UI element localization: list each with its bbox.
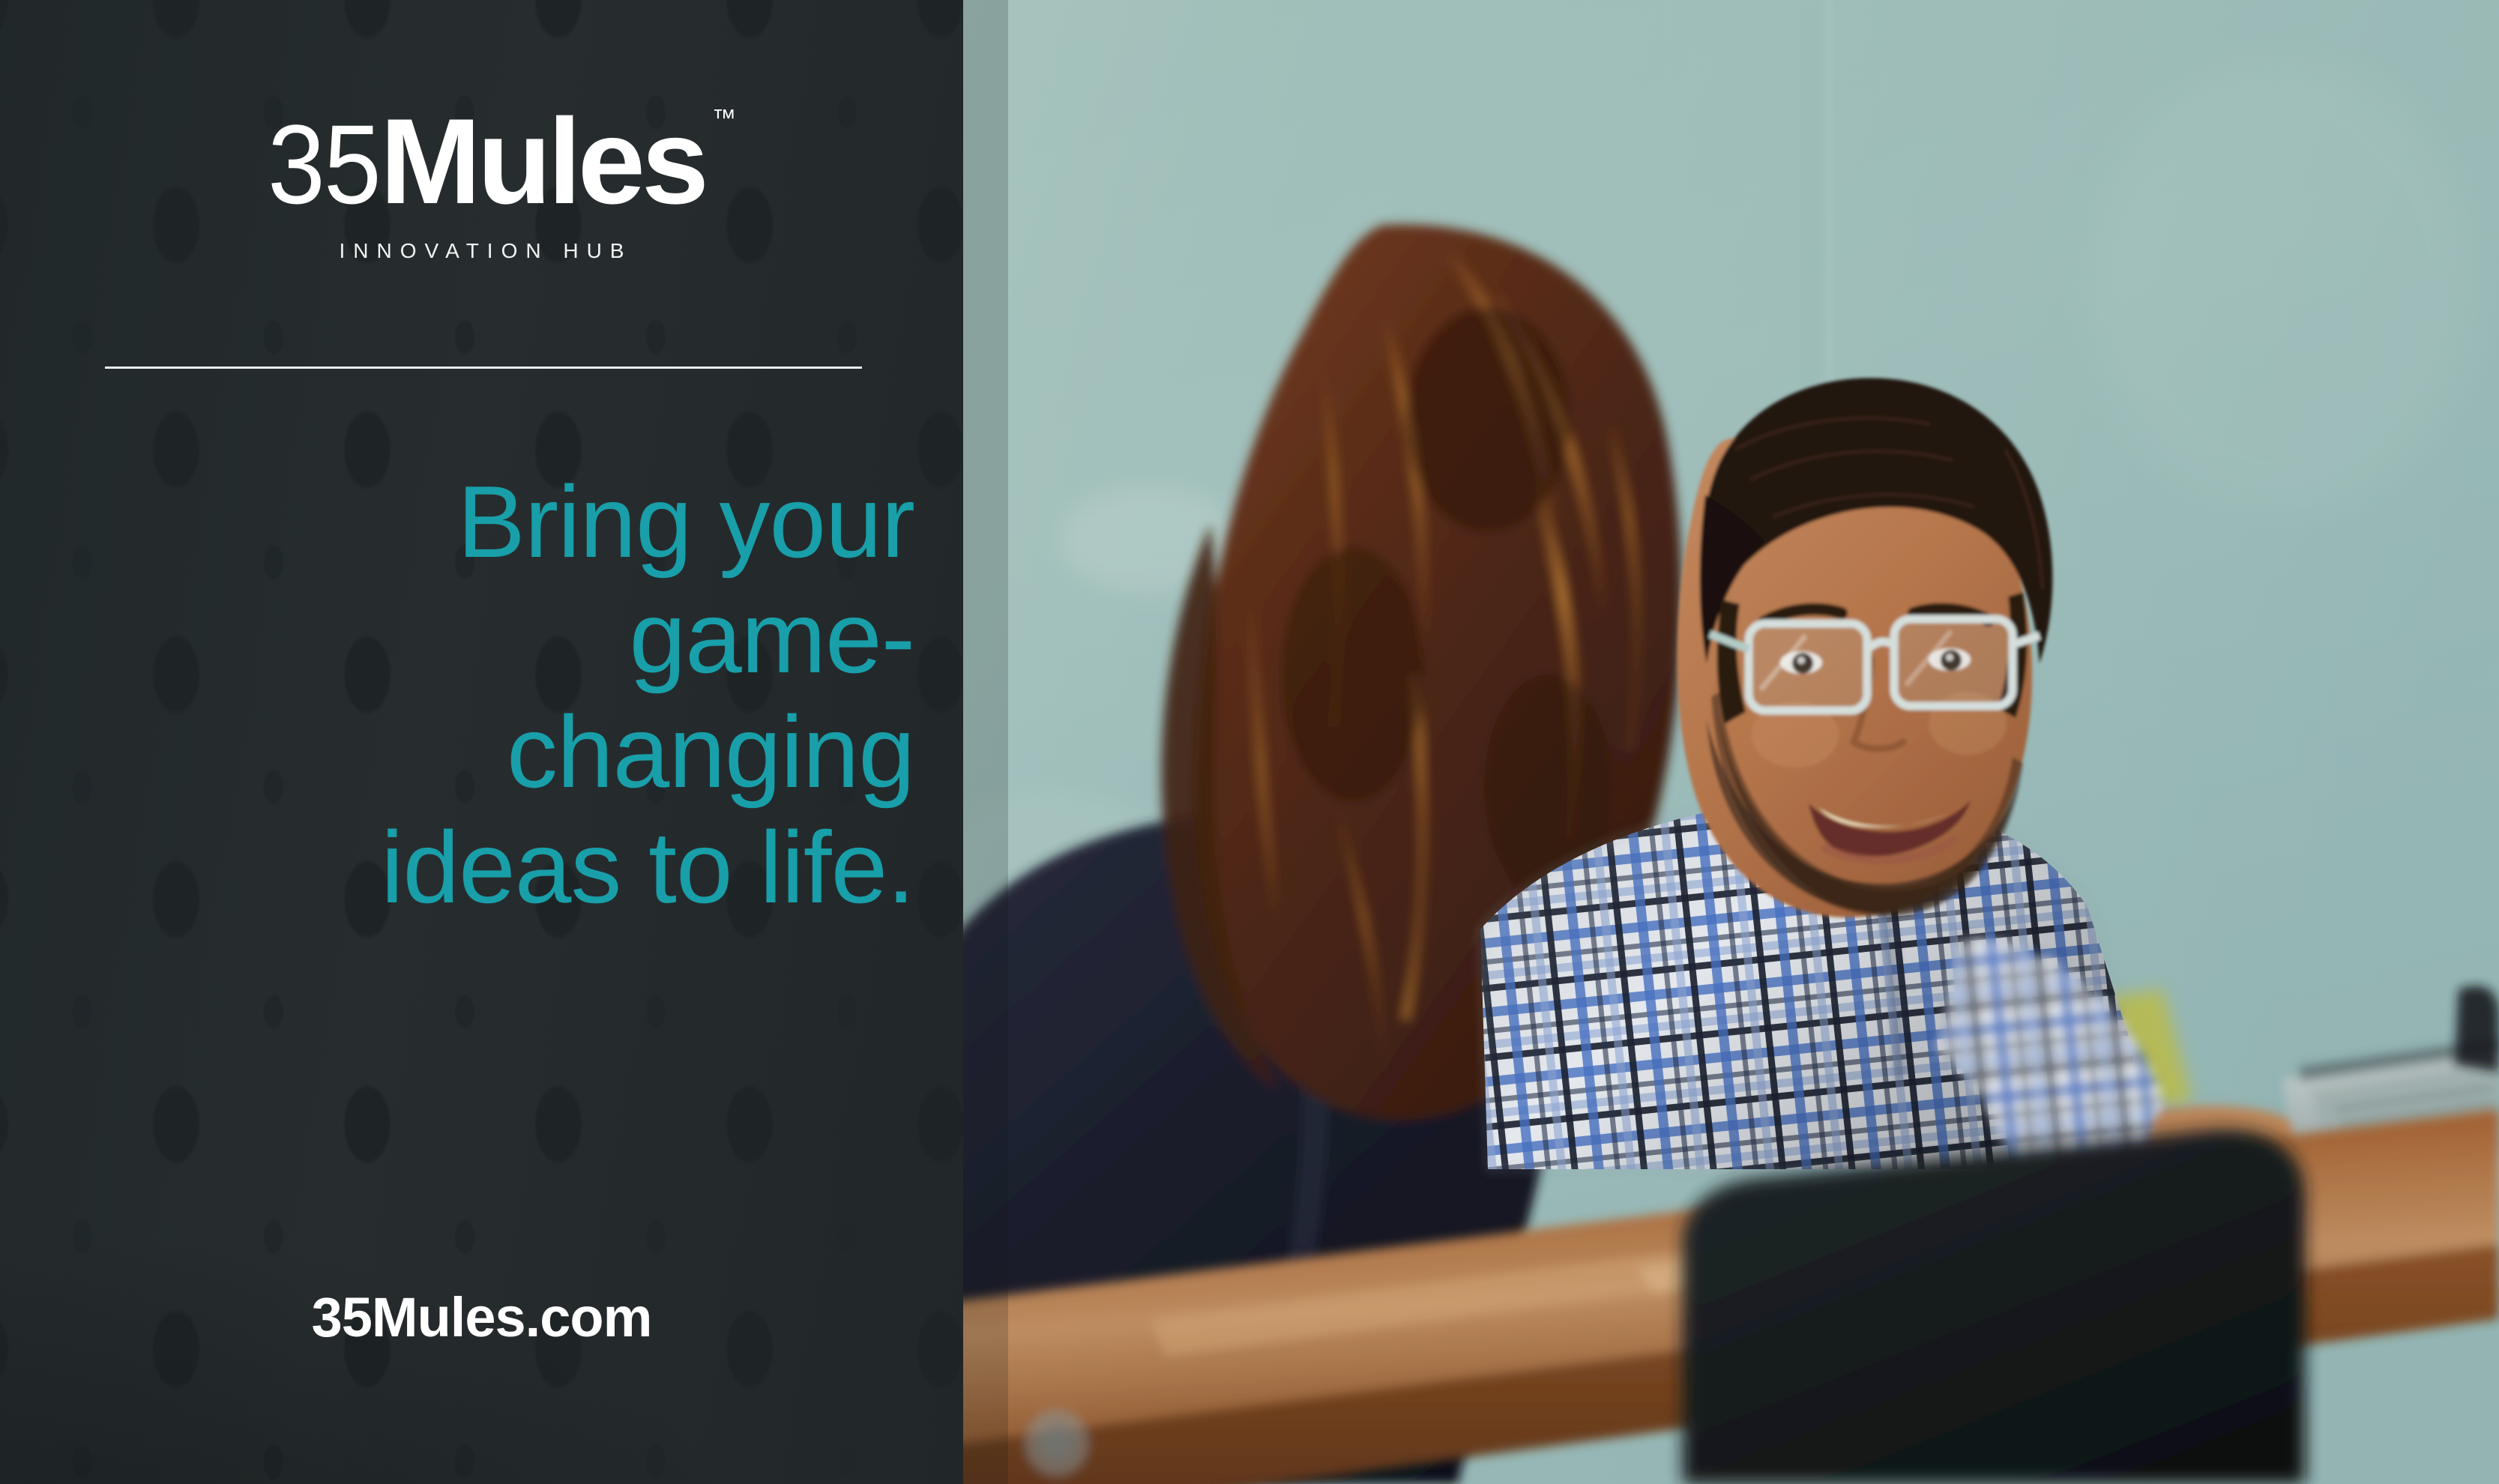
trademark-symbol: ™ bbox=[712, 106, 737, 130]
office-photograph bbox=[963, 0, 2499, 1484]
headline-line-1: Bring your bbox=[45, 465, 914, 580]
headline-line-4: ideas to life. bbox=[45, 810, 914, 926]
brand-panel: 35Mules ™ INNOVATION HUB Bring your game… bbox=[0, 0, 963, 1484]
divider-rule bbox=[105, 367, 862, 369]
logo-tagline: INNOVATION HUB bbox=[0, 239, 963, 263]
photo-illustration bbox=[963, 0, 2499, 1484]
headline-line-3: changing bbox=[45, 695, 914, 810]
logo-wordmark: 35Mules ™ bbox=[258, 101, 705, 223]
headline: Bring your game- changing ideas to life. bbox=[45, 465, 914, 926]
headline-line-2: game- bbox=[45, 580, 914, 696]
logo-name: Mules bbox=[380, 101, 705, 223]
logo: 35Mules ™ INNOVATION HUB bbox=[0, 101, 963, 263]
website-url[interactable]: 35Mules.com bbox=[0, 1285, 963, 1349]
marketing-banner: 35Mules ™ INNOVATION HUB Bring your game… bbox=[0, 0, 2499, 1484]
logo-prefix: 35 bbox=[268, 108, 380, 220]
